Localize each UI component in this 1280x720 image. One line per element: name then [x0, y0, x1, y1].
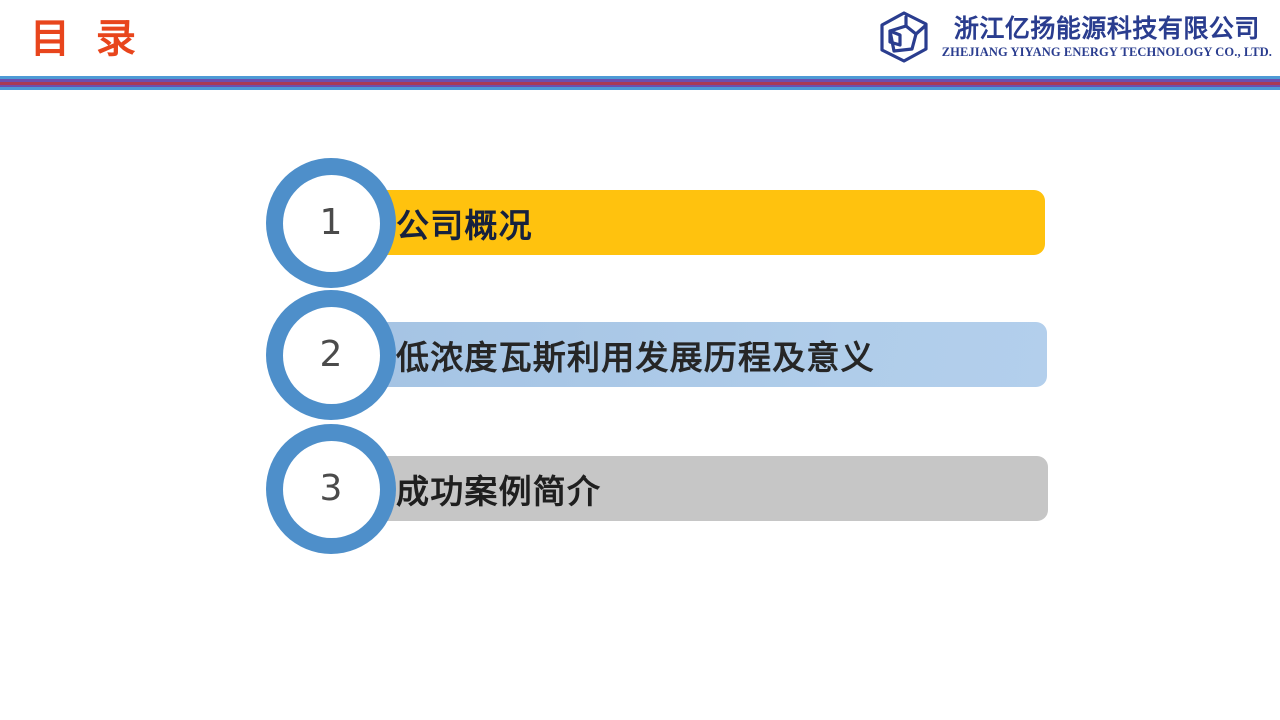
toc-number-1: 1 — [320, 205, 343, 241]
toc-bar-1[interactable]: 公司概况 — [372, 190, 1045, 255]
toc-number-circle-3: 3 — [266, 424, 396, 554]
toc-number-circle-inner-3: 3 — [283, 441, 380, 538]
slide-root: 目 录 浙江亿扬能源科技有限公司 ZHEJIANG YIYANG ENERGY … — [0, 0, 1280, 720]
toc-bar-3[interactable]: 成功案例简介 — [372, 456, 1048, 521]
toc-label-2: 低浓度瓦斯利用发展历程及意义 — [396, 331, 875, 379]
toc-number-circle-inner-1: 1 — [283, 175, 380, 272]
toc-item-2[interactable]: 低浓度瓦斯利用发展历程及意义 2 — [0, 284, 1280, 424]
toc-item-3[interactable]: 成功案例简介 3 — [0, 418, 1280, 558]
toc-label-1: 公司概况 — [396, 199, 533, 247]
toc-number-2: 2 — [320, 337, 343, 373]
toc-number-3: 3 — [320, 471, 343, 507]
toc-label-3: 成功案例简介 — [396, 465, 601, 513]
toc-number-circle-inner-2: 2 — [283, 307, 380, 404]
toc-number-circle-2: 2 — [266, 290, 396, 420]
toc-number-circle-1: 1 — [266, 158, 396, 288]
toc-item-1[interactable]: 公司概况 1 — [0, 152, 1280, 292]
toc-bar-2[interactable]: 低浓度瓦斯利用发展历程及意义 — [372, 322, 1047, 387]
toc-list: 公司概况 1 低浓度瓦斯利用发展历程及意义 2 成功案例简介 — [0, 0, 1280, 720]
